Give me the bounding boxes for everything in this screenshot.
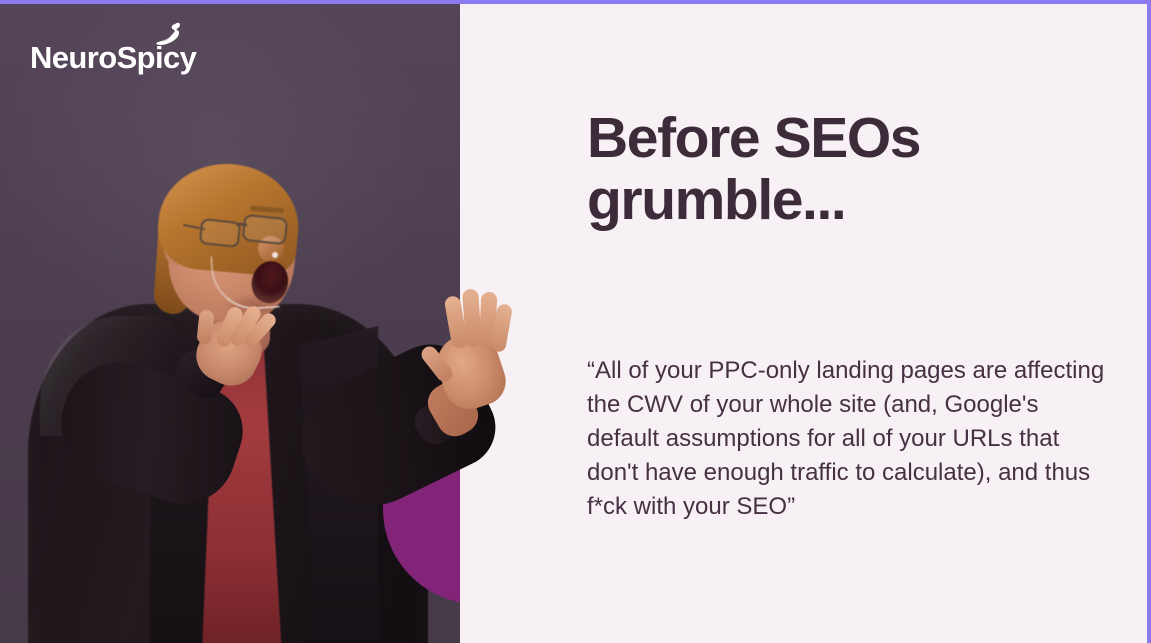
glasses-lens-left	[199, 218, 241, 248]
microphone-tip	[272, 252, 278, 258]
presentation-slide: NeuroSpicy Before SEOs grumble... “All o…	[0, 0, 1151, 643]
brand-logo[interactable]: NeuroSpicy	[30, 42, 196, 73]
quote-text: “All of your PPC-only landing pages are …	[587, 354, 1107, 524]
glasses-lens-right	[242, 214, 289, 245]
chili-pepper-icon	[153, 22, 187, 52]
content-panel: Before SEOs grumble... “All of your PPC-…	[460, 4, 1147, 643]
page-title: Before SEOs grumble...	[587, 108, 1057, 231]
